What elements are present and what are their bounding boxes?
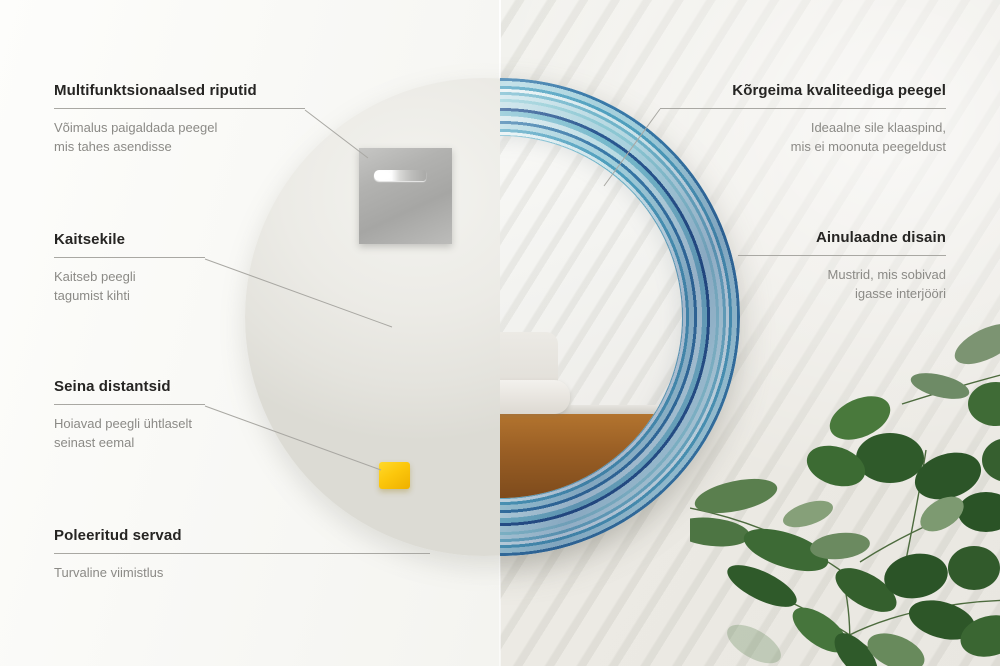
callout-body-line2: tagumist kihti — [54, 286, 205, 305]
reflected-sofa-seat — [500, 380, 570, 414]
callout-unique-design: Ainulaadne disain Mustrid, mis sobivad i… — [738, 229, 946, 303]
leaves — [690, 316, 1000, 666]
hanger-keyhole-slot — [374, 170, 426, 181]
callout-multifunctional-hangers: Multifunktsionaalsed riputid Võimalus pa… — [54, 82, 305, 156]
callout-body-line1: Ideaalne sile klaaspind, — [660, 118, 946, 137]
foliage-decoration — [690, 300, 1000, 666]
callout-protective-film: Kaitsekile Kaitseb peegli tagumist kihti — [54, 231, 205, 305]
callout-title: Ainulaadne disain — [738, 229, 946, 246]
callout-wall-spacers: Seina distantsid Hoiavad peegli ühtlasel… — [54, 378, 205, 452]
callout-rule — [54, 553, 430, 554]
callout-rule — [54, 108, 305, 109]
infographic-canvas: Multifunktsionaalsed riputid Võimalus pa… — [0, 0, 1000, 666]
callout-body-line1: Hoiavad peegli ühtlaselt — [54, 414, 205, 433]
callout-body-line2: mis tahes asendisse — [54, 137, 305, 156]
reflected-wood-floor — [500, 412, 682, 498]
callout-body-line1: Kaitseb peegli — [54, 267, 205, 286]
callout-body-line2: mis ei moonuta peegeldust — [660, 137, 946, 156]
callout-highest-quality-mirror: Kõrgeima kvaliteediga peegel Ideaalne si… — [660, 82, 946, 156]
callout-title: Kaitsekile — [54, 231, 205, 248]
callout-body-line1: Turvaline viimistlus — [54, 563, 430, 582]
callout-title: Poleeritud servad — [54, 527, 430, 544]
callout-body-line1: Mustrid, mis sobivad — [738, 265, 946, 284]
callout-rule — [660, 108, 946, 109]
callout-body-line2: seinast eemal — [54, 433, 205, 452]
callout-title: Kõrgeima kvaliteediga peegel — [660, 82, 946, 99]
wall-spacer-block — [379, 462, 410, 489]
callout-rule — [54, 404, 205, 405]
callout-title: Multifunktsionaalsed riputid — [54, 82, 305, 99]
callout-rule — [54, 257, 205, 258]
callout-rule — [738, 255, 946, 256]
hanger-plate — [359, 148, 452, 244]
callout-body-line1: Võimalus paigaldada peegel — [54, 118, 305, 137]
callout-title: Seina distantsid — [54, 378, 205, 395]
callout-polished-edges: Poleeritud servad Turvaline viimistlus — [54, 527, 430, 582]
